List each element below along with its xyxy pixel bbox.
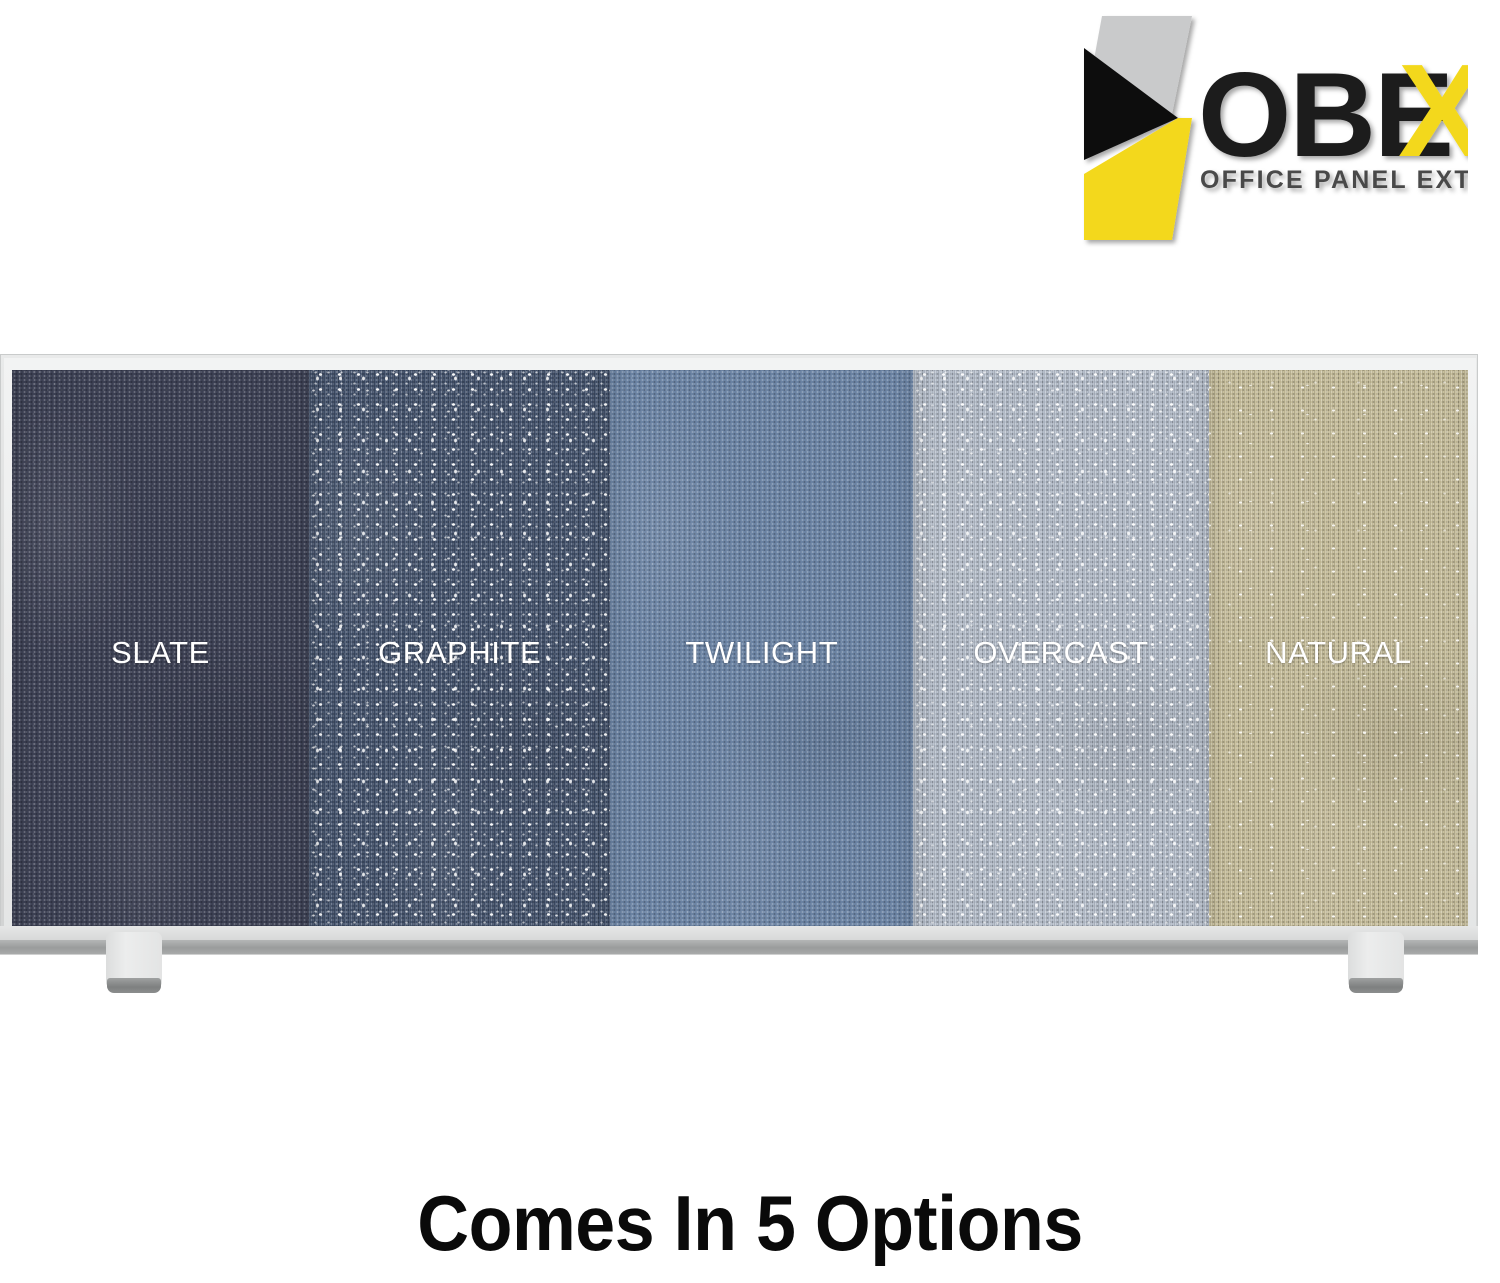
mounting-bracket-left <box>106 932 162 994</box>
panel-rail-lower <box>0 940 1478 955</box>
bracket-left-foot <box>107 978 161 993</box>
logo-wordmark-x: X <box>1398 37 1468 184</box>
swatch-label-slate: SLATE <box>111 635 210 671</box>
swatch-graphite[interactable]: GRAPHITE <box>309 370 610 926</box>
swatch-label-natural: NATURAL <box>1265 635 1412 671</box>
fabric-sample-panel: SLATE GRAPHITE TWILIGHT OVERCAST <box>0 354 1478 962</box>
swatch-label-twilight: TWILIGHT <box>685 635 838 671</box>
logo-wordmark: OBE X <box>1198 37 1468 184</box>
panel-rail-upper <box>0 926 1478 940</box>
mounting-bracket-right <box>1348 932 1404 994</box>
swatch-label-overcast: OVERCAST <box>973 635 1148 671</box>
logo-mark-icon <box>1084 16 1192 240</box>
swatch-slate[interactable]: SLATE <box>12 370 309 926</box>
swatch-twilight[interactable]: TWILIGHT <box>610 370 913 926</box>
caption-text: Comes In 5 Options <box>60 1178 1440 1269</box>
logo-tagline: OFFICE PANEL EXTENDERS <box>1200 166 1468 194</box>
fabric-swatch-strip: SLATE GRAPHITE TWILIGHT OVERCAST <box>12 370 1468 926</box>
swatch-label-graphite: GRAPHITE <box>378 635 541 671</box>
swatch-natural[interactable]: NATURAL <box>1209 370 1468 926</box>
swatch-overcast[interactable]: OVERCAST <box>913 370 1209 926</box>
bracket-right-foot <box>1349 978 1403 993</box>
obex-logo: OBE X OFFICE PANEL EXTENDERS <box>1068 8 1468 253</box>
